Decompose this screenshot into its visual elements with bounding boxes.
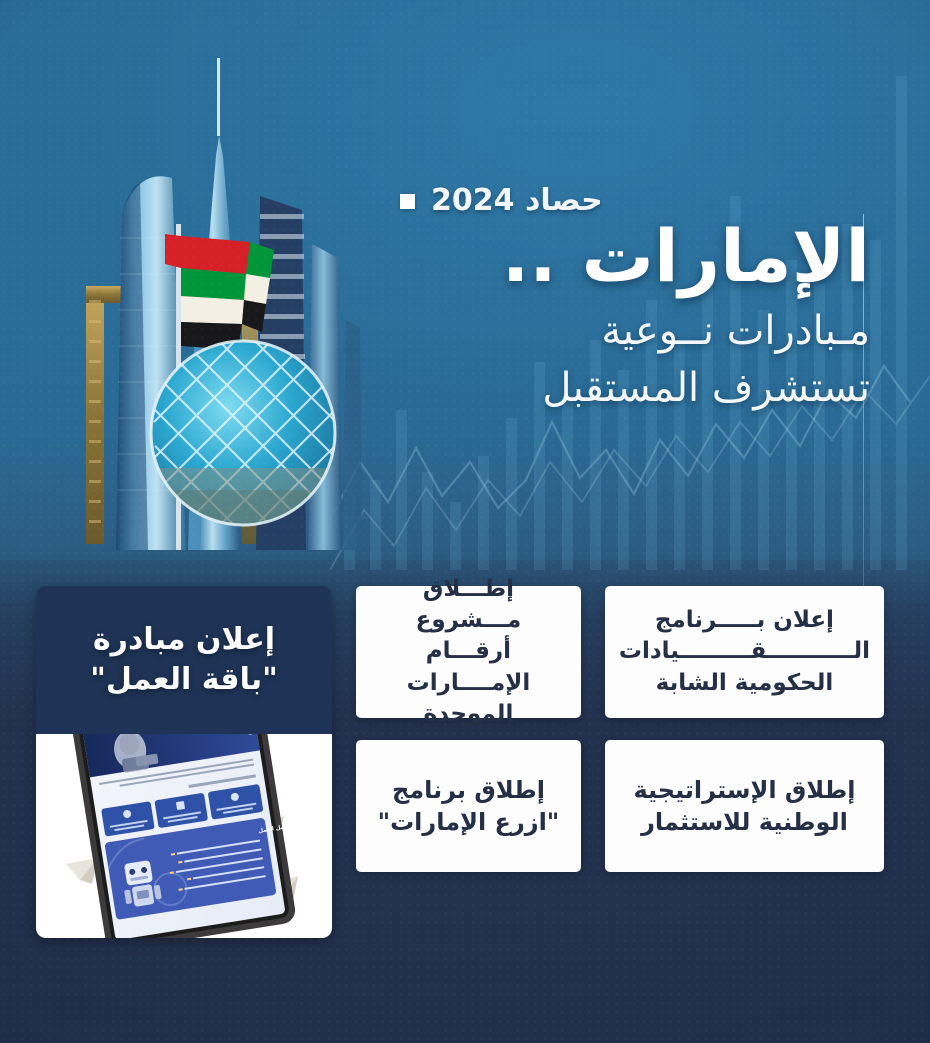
square-marker-icon [400,194,415,209]
subtitle-line-2: تستشرف المستقبل [400,360,870,417]
feature-panel-header: إعلان مبادرة "باقة العمل" [36,586,332,734]
uae-skyline-illustration [60,28,410,558]
title-block: حصاد 2024 الإمارات .. مـبادرات نــوعية ت… [400,186,870,417]
card-text: إطلاق برنامج "ازرع الإمارات" [378,774,560,839]
page-subtitle: مـبادرات نــوعية تستشرف المستقبل [400,303,870,417]
tablet-work-package-portal-screenshot: باقة العمل [36,734,332,938]
card-text: إطلاق الإستراتيجية الوطنية للاستثمار [633,774,855,839]
card-young-government-leaders[interactable]: إعلان بـــــرنامج الـــــــــــقــــــــ… [605,586,884,718]
card-unified-uae-numbers[interactable]: إطـــلاق مـــشروع أرقـــام الإمــــارات … [356,586,581,718]
subtitle-line-1: مـبادرات نــوعية [400,303,870,360]
feature-panel-title: إعلان مبادرة "باقة العمل" [90,620,277,700]
kicker-text: حصاد 2024 [431,186,603,216]
infographic-canvas: حصاد 2024 الإمارات .. مـبادرات نــوعية ت… [0,0,930,1043]
initiatives-card-grid: إعلان بـــــرنامج الـــــــــــقــــــــ… [356,586,884,872]
feature-panel-work-package[interactable]: إعلان مبادرة "باقة العمل" [36,586,332,938]
card-text: إطـــلاق مـــشروع أرقـــام الإمــــارات … [370,574,567,729]
card-plant-the-emirates[interactable]: إطلاق برنامج "ازرع الإمارات" [356,740,581,872]
card-national-investment-strategy[interactable]: إطلاق الإستراتيجية الوطنية للاستثمار [605,740,884,872]
page-title: الإمارات .. [400,220,870,293]
kicker-row: حصاد 2024 [400,186,870,216]
card-text: إعلان بـــــرنامج الـــــــــــقــــــــ… [619,605,870,698]
